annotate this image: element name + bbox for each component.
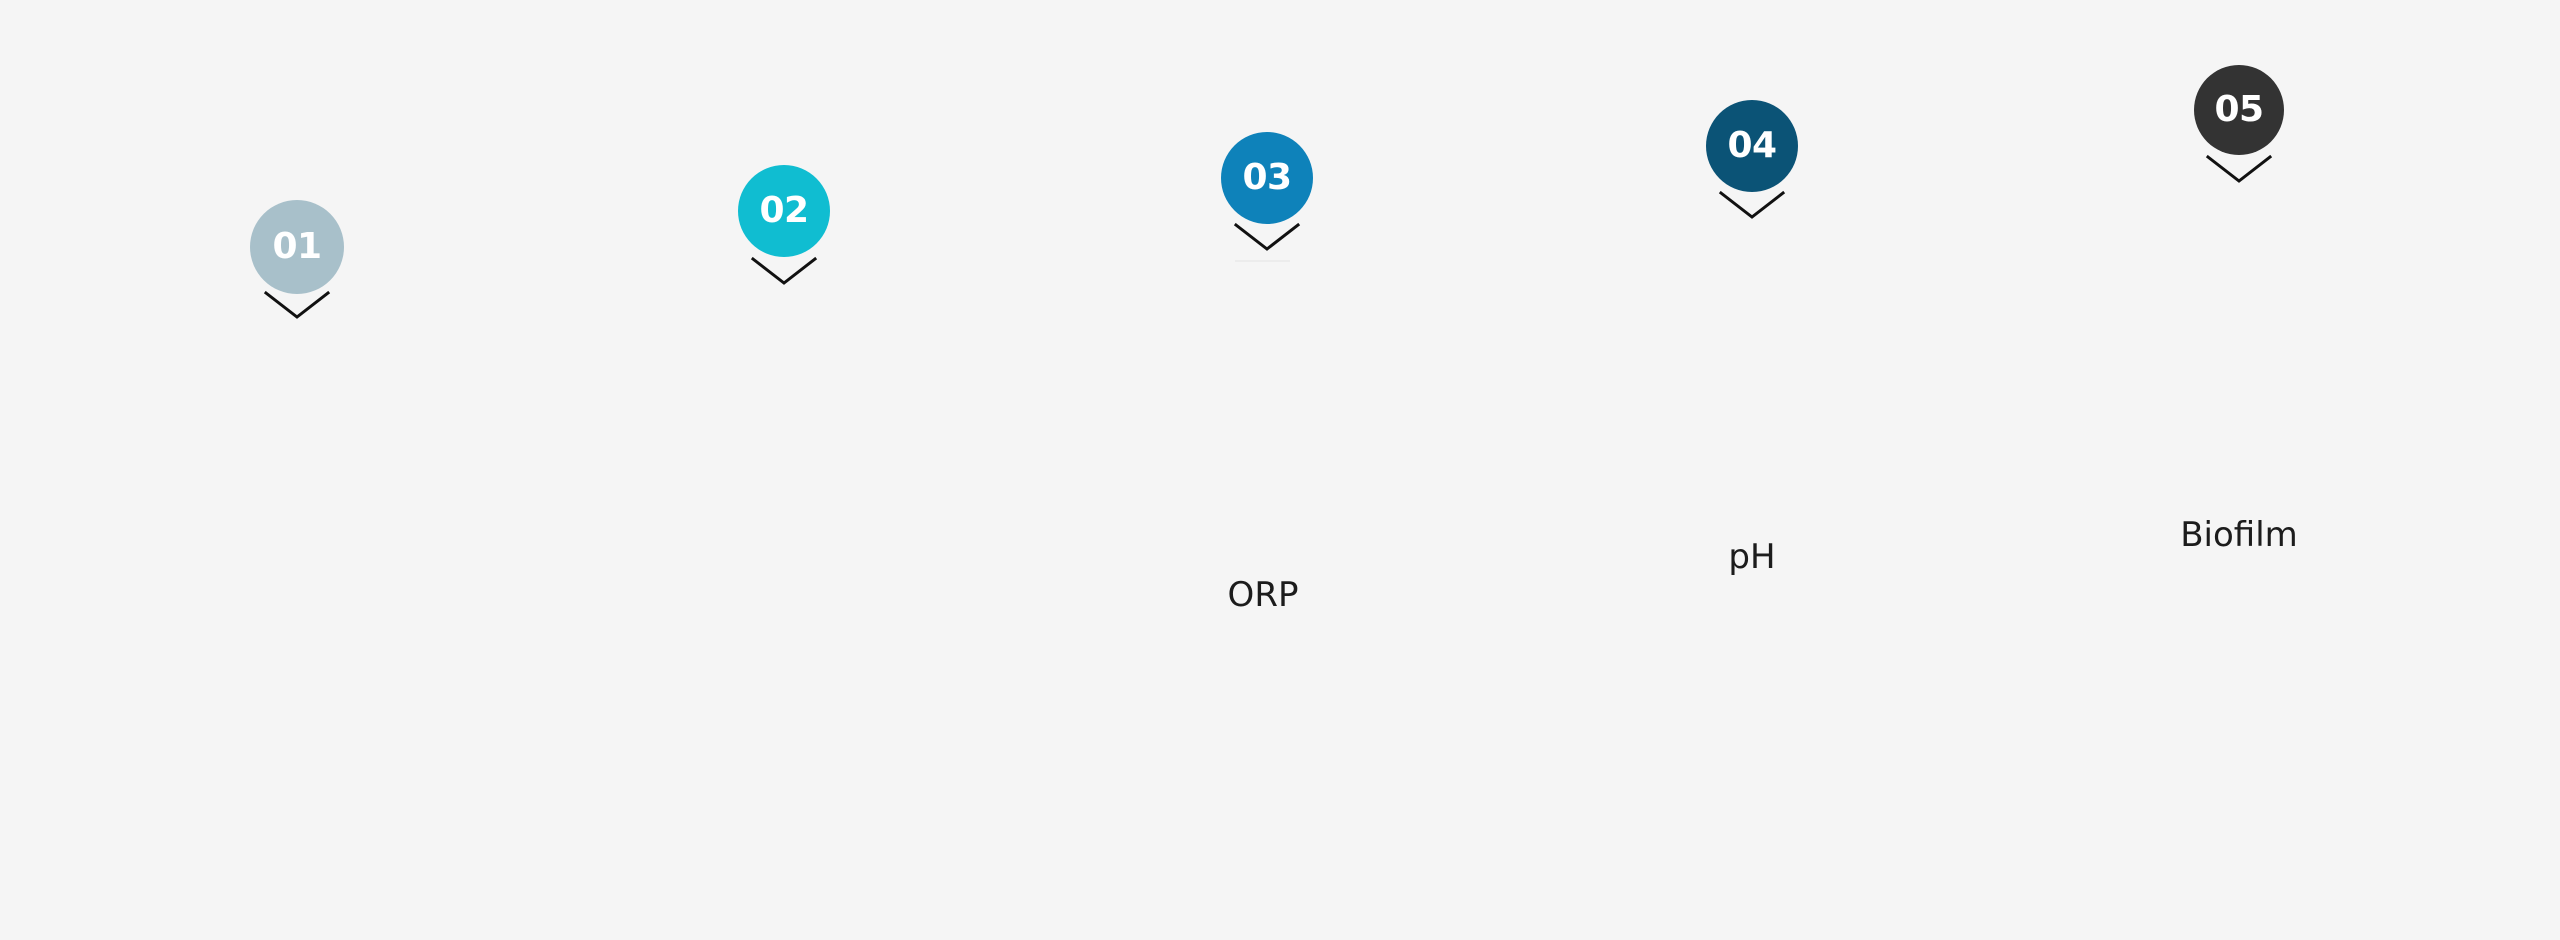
chevron-down-icon xyxy=(1233,222,1301,252)
step-badge-05[interactable]: 05 xyxy=(2194,65,2284,155)
chevron-down-icon xyxy=(2205,154,2273,184)
step-badge-01[interactable]: 01 xyxy=(250,200,344,294)
step-label-04: pH xyxy=(1728,540,1775,574)
chevron-down-icon xyxy=(263,290,331,320)
step-badge-04[interactable]: 04 xyxy=(1706,100,1798,192)
step-label-05: Biofilm xyxy=(2180,518,2298,552)
step-number-text: 01 xyxy=(272,229,321,265)
step-number-text: 03 xyxy=(1242,160,1291,196)
graphic-canvas: 010203ORP04pH05Biofilm xyxy=(0,0,2560,940)
step-number-text: 02 xyxy=(759,193,808,229)
chevron-down-icon xyxy=(1718,190,1786,220)
step-badge-03[interactable]: 03 xyxy=(1221,132,1313,224)
step-number-text: 04 xyxy=(1727,128,1776,164)
step-number-text: 05 xyxy=(2214,92,2263,128)
faint-divider-artifact xyxy=(1235,260,1290,262)
step-badge-02[interactable]: 02 xyxy=(738,165,830,257)
chevron-down-icon xyxy=(750,256,818,286)
step-label-03: ORP xyxy=(1228,578,1299,612)
